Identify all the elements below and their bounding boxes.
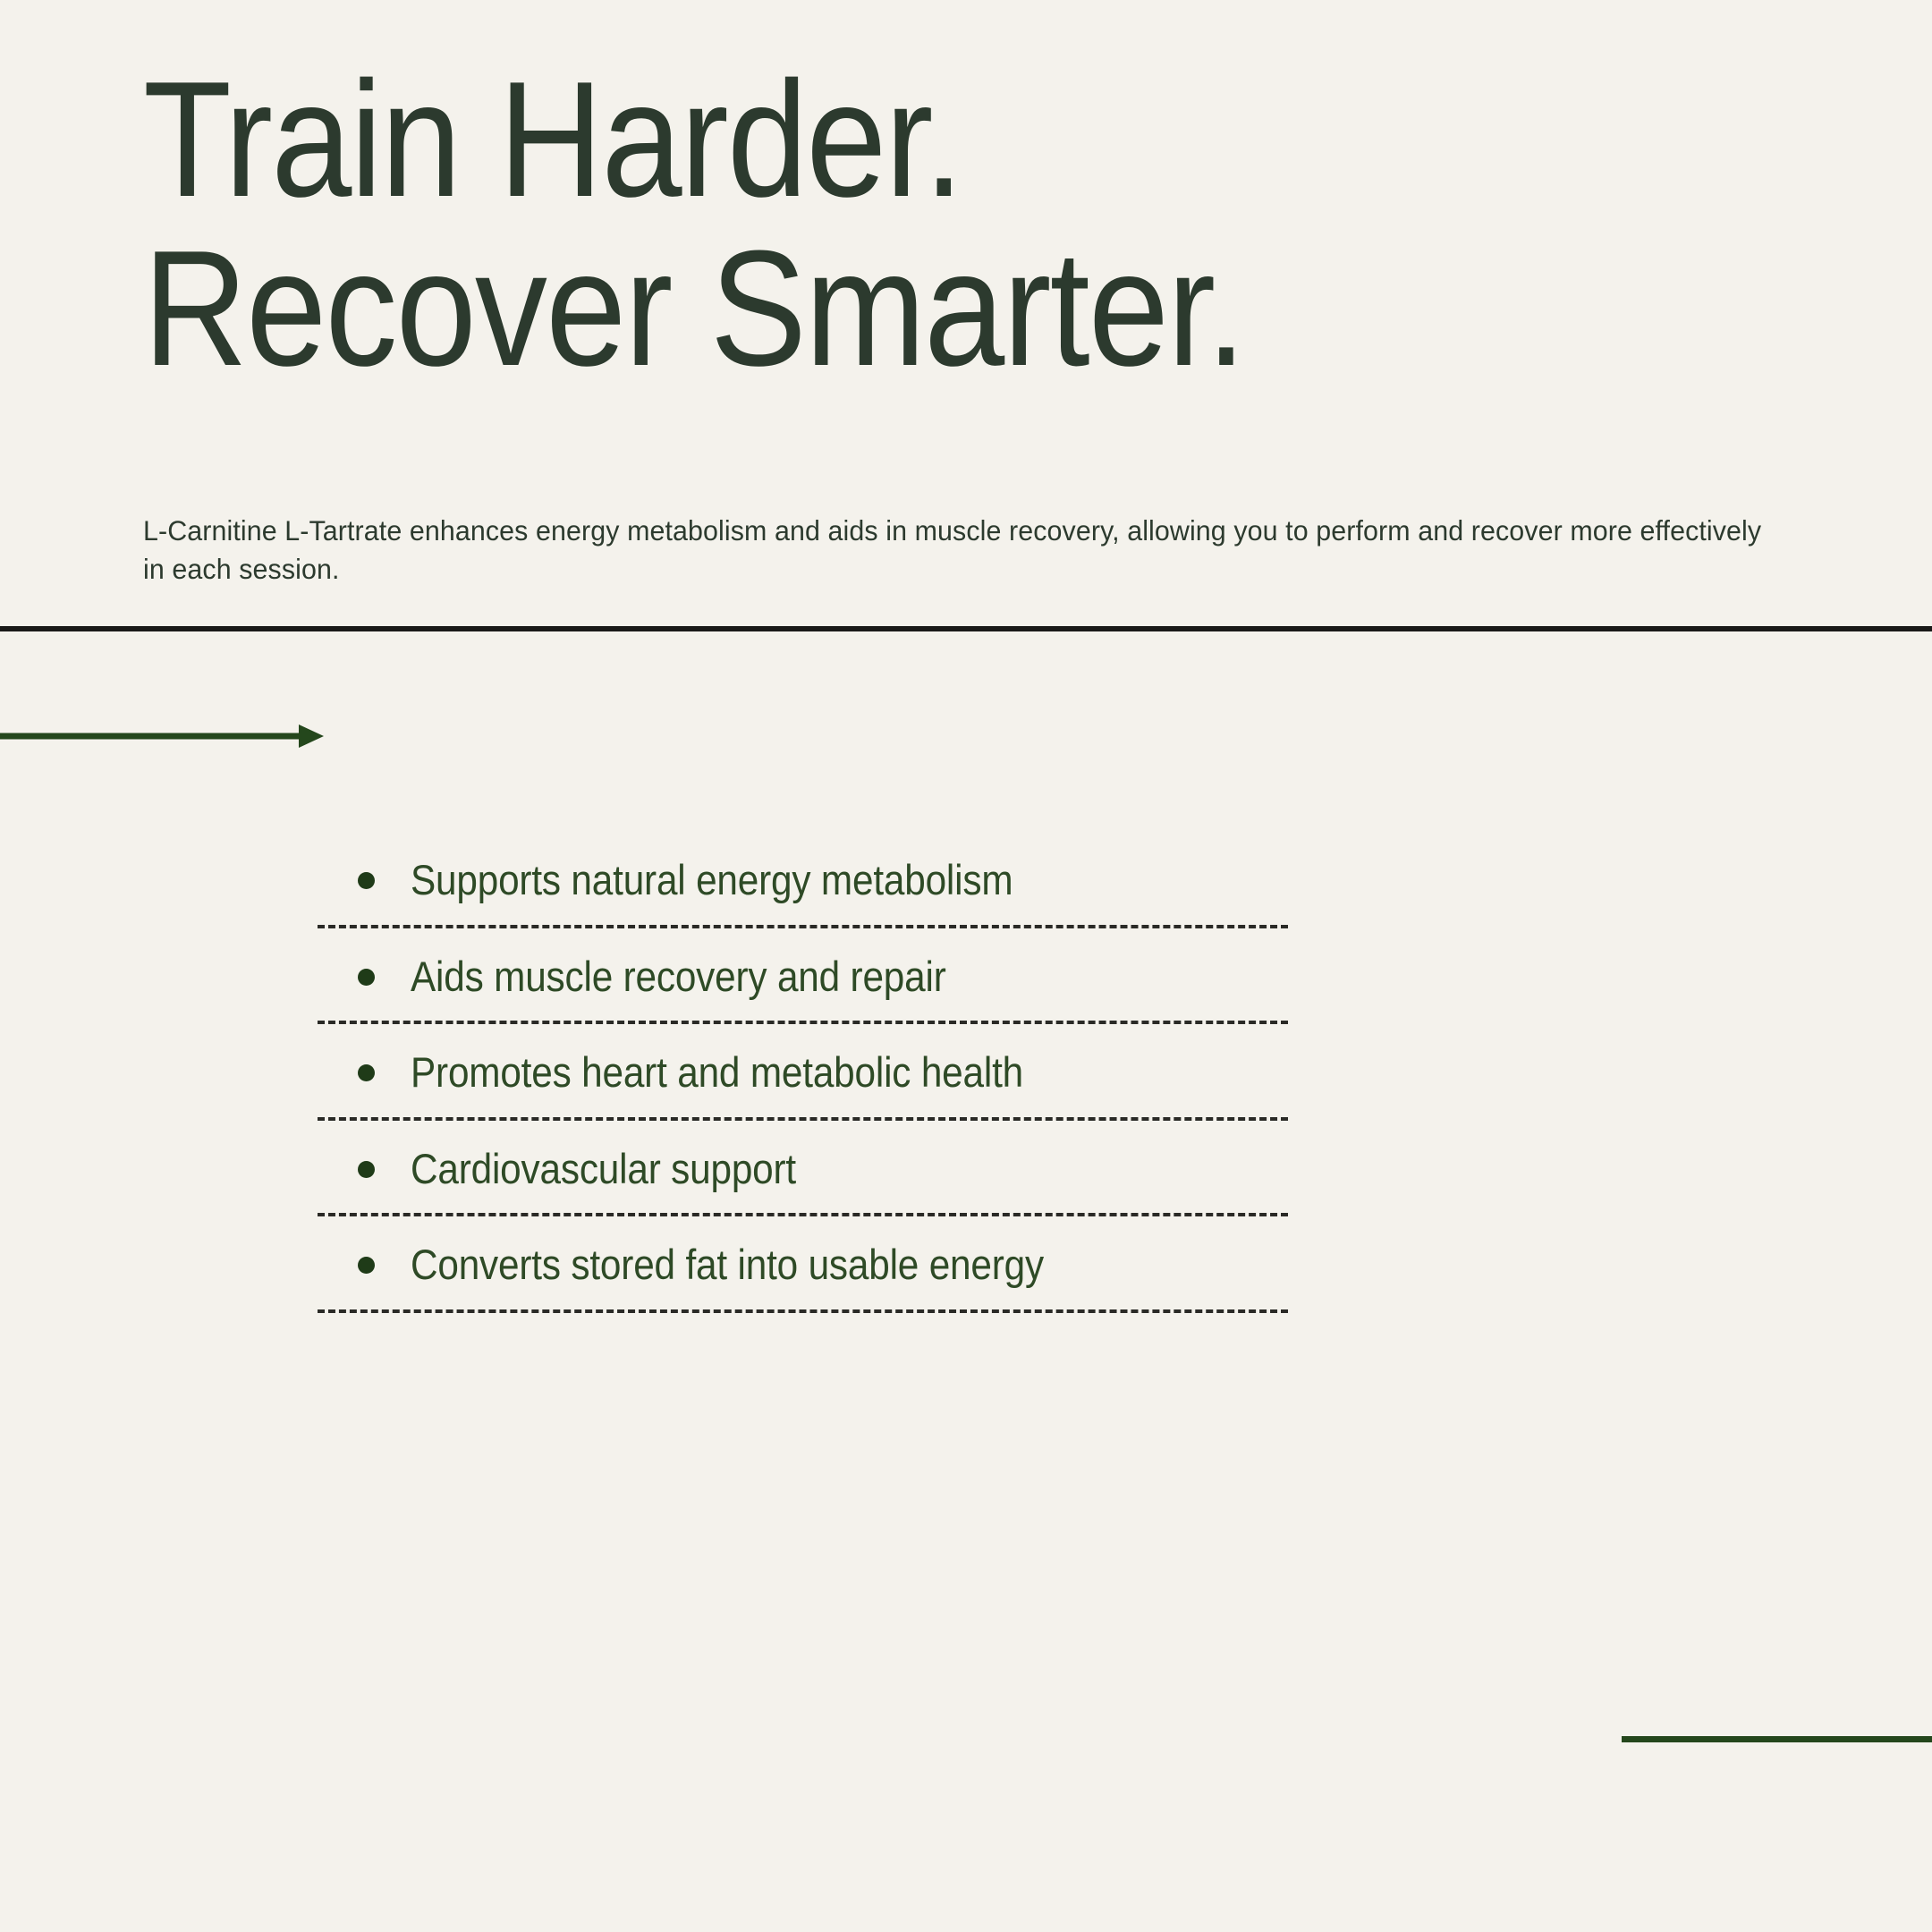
bullet-icon xyxy=(358,1161,375,1178)
feature-label: Converts stored fat into usable energy xyxy=(411,1243,1044,1285)
list-item[interactable]: Aids muscle recovery and repair xyxy=(318,928,1288,1025)
header-block: Train Harder. Recover Smarter. L-Carniti… xyxy=(143,61,1843,386)
poster-canvas: Train Harder. Recover Smarter. L-Carniti… xyxy=(0,0,1932,1932)
feature-label: Supports natural energy metabolism xyxy=(411,859,1013,901)
list-item[interactable]: Cardiovascular support xyxy=(318,1121,1288,1217)
feature-label: Promotes heart and metabolic health xyxy=(411,1051,1023,1093)
list-item[interactable]: Supports natural energy metabolism xyxy=(318,832,1288,928)
feature-list: Supports natural energy metabolism Aids … xyxy=(318,832,1288,1313)
bullet-icon xyxy=(358,969,375,986)
headline-line-2: Recover Smarter. xyxy=(143,230,1639,386)
feature-label: Aids muscle recovery and repair xyxy=(411,955,946,997)
feature-label: Cardiovascular support xyxy=(411,1148,796,1190)
bullet-icon xyxy=(358,1257,375,1274)
headline-line-1: Train Harder. xyxy=(143,61,1639,217)
page-title: Train Harder. Recover Smarter. xyxy=(143,61,1639,386)
dashed-separator xyxy=(318,1309,1288,1313)
accent-line xyxy=(1622,1736,1932,1742)
list-item[interactable]: Converts stored fat into usable energy xyxy=(318,1216,1288,1313)
arrow-right-icon xyxy=(0,716,340,757)
list-item[interactable]: Promotes heart and metabolic health xyxy=(318,1024,1288,1121)
bullet-icon xyxy=(358,1064,375,1081)
bullet-icon xyxy=(358,872,375,889)
horizontal-rule xyxy=(0,626,1932,631)
subtitle-paragraph: L-Carnitine L-Tartrate enhances energy m… xyxy=(143,512,1784,589)
